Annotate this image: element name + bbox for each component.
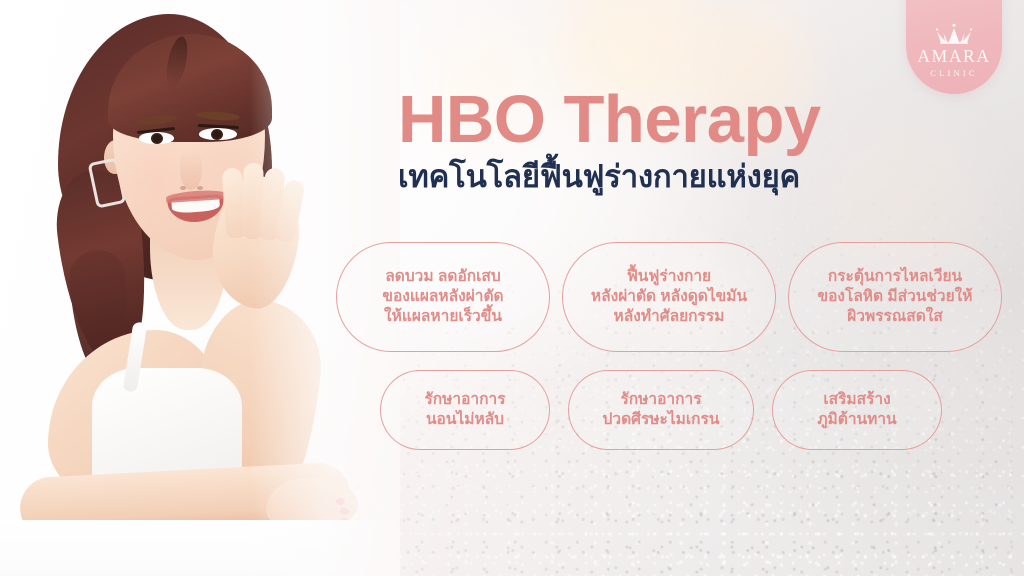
benefits-row-1: ลดบวม ลดอักเสบ ของแผลหลังผ่าตัด ให้แผลหา… [336, 242, 1012, 352]
brand-name: AMARA [917, 48, 990, 66]
benefit-pill-5-label: รักษาอาการ ปวดศีรษะไมเกรน [593, 390, 730, 430]
crown-icon [931, 23, 977, 45]
brand-logo[interactable]: AMARA CLINIC [906, 0, 1002, 94]
headline-block: HBO Therapy เทคโนโลยีฟื้นฟูร่างกายแห่งยุ… [398, 88, 918, 195]
benefit-pill-3[interactable]: กระตุ้นการไหลเวียน ของโลหิต มีส่วนช่วยให… [788, 242, 1002, 352]
model-iris [151, 133, 163, 144]
benefit-pill-2[interactable]: ฟื้นฟูร่างกาย หลังผ่าตัด หลังดูดไขมัน หล… [562, 242, 776, 352]
benefit-pill-4-label: รักษาอาการ นอนไม่หลับ [414, 390, 515, 430]
benefit-pill-1[interactable]: ลดบวม ลดอักเสบ ของแผลหลังผ่าตัด ให้แผลหา… [336, 242, 550, 352]
benefit-pill-6-label: เสริมสร้าง ภูมิต้านทาน [807, 390, 906, 430]
model-nostril [180, 186, 186, 190]
benefits-row-2: รักษาอาการ นอนไม่หลับ รักษาอาการ ปวดศีรษ… [336, 370, 1012, 450]
benefits-list: ลดบวม ลดอักเสบ ของแผลหลังผ่าตัด ให้แผลหา… [336, 242, 1012, 450]
hbo-therapy-banner: AMARA CLINIC HBO Therapy เทคโนโลยีฟื้นฟู… [0, 0, 1024, 576]
benefit-pill-3-label: กระตุ้นการไหลเวียน ของโลหิต มีส่วนช่วยให… [808, 267, 983, 326]
benefit-pill-4[interactable]: รักษาอาการ นอนไม่หลับ [380, 370, 550, 450]
benefit-pill-2-label: ฟื้นฟูร่างกาย หลังผ่าตัด หลังดูดไขมัน หล… [581, 267, 757, 326]
page-subtitle: เทคโนโลยีฟื้นฟูร่างกายแห่งยุค [398, 160, 918, 195]
benefit-pill-1-label: ลดบวม ลดอักเสบ ของแผลหลังผ่าตัด ให้แผลหา… [372, 267, 513, 326]
model-nostril [197, 186, 203, 190]
page-title: HBO Therapy [398, 88, 918, 152]
model-eye [199, 128, 237, 140]
brand-subtitle: CLINIC [930, 68, 978, 78]
benefit-pill-5[interactable]: รักษาอาการ ปวดศีรษะไมเกรน [568, 370, 754, 450]
model-iris [211, 129, 223, 140]
model-eye [139, 132, 174, 144]
benefit-pill-6[interactable]: เสริมสร้าง ภูมิต้านทาน [772, 370, 942, 450]
model-nose [180, 150, 202, 190]
